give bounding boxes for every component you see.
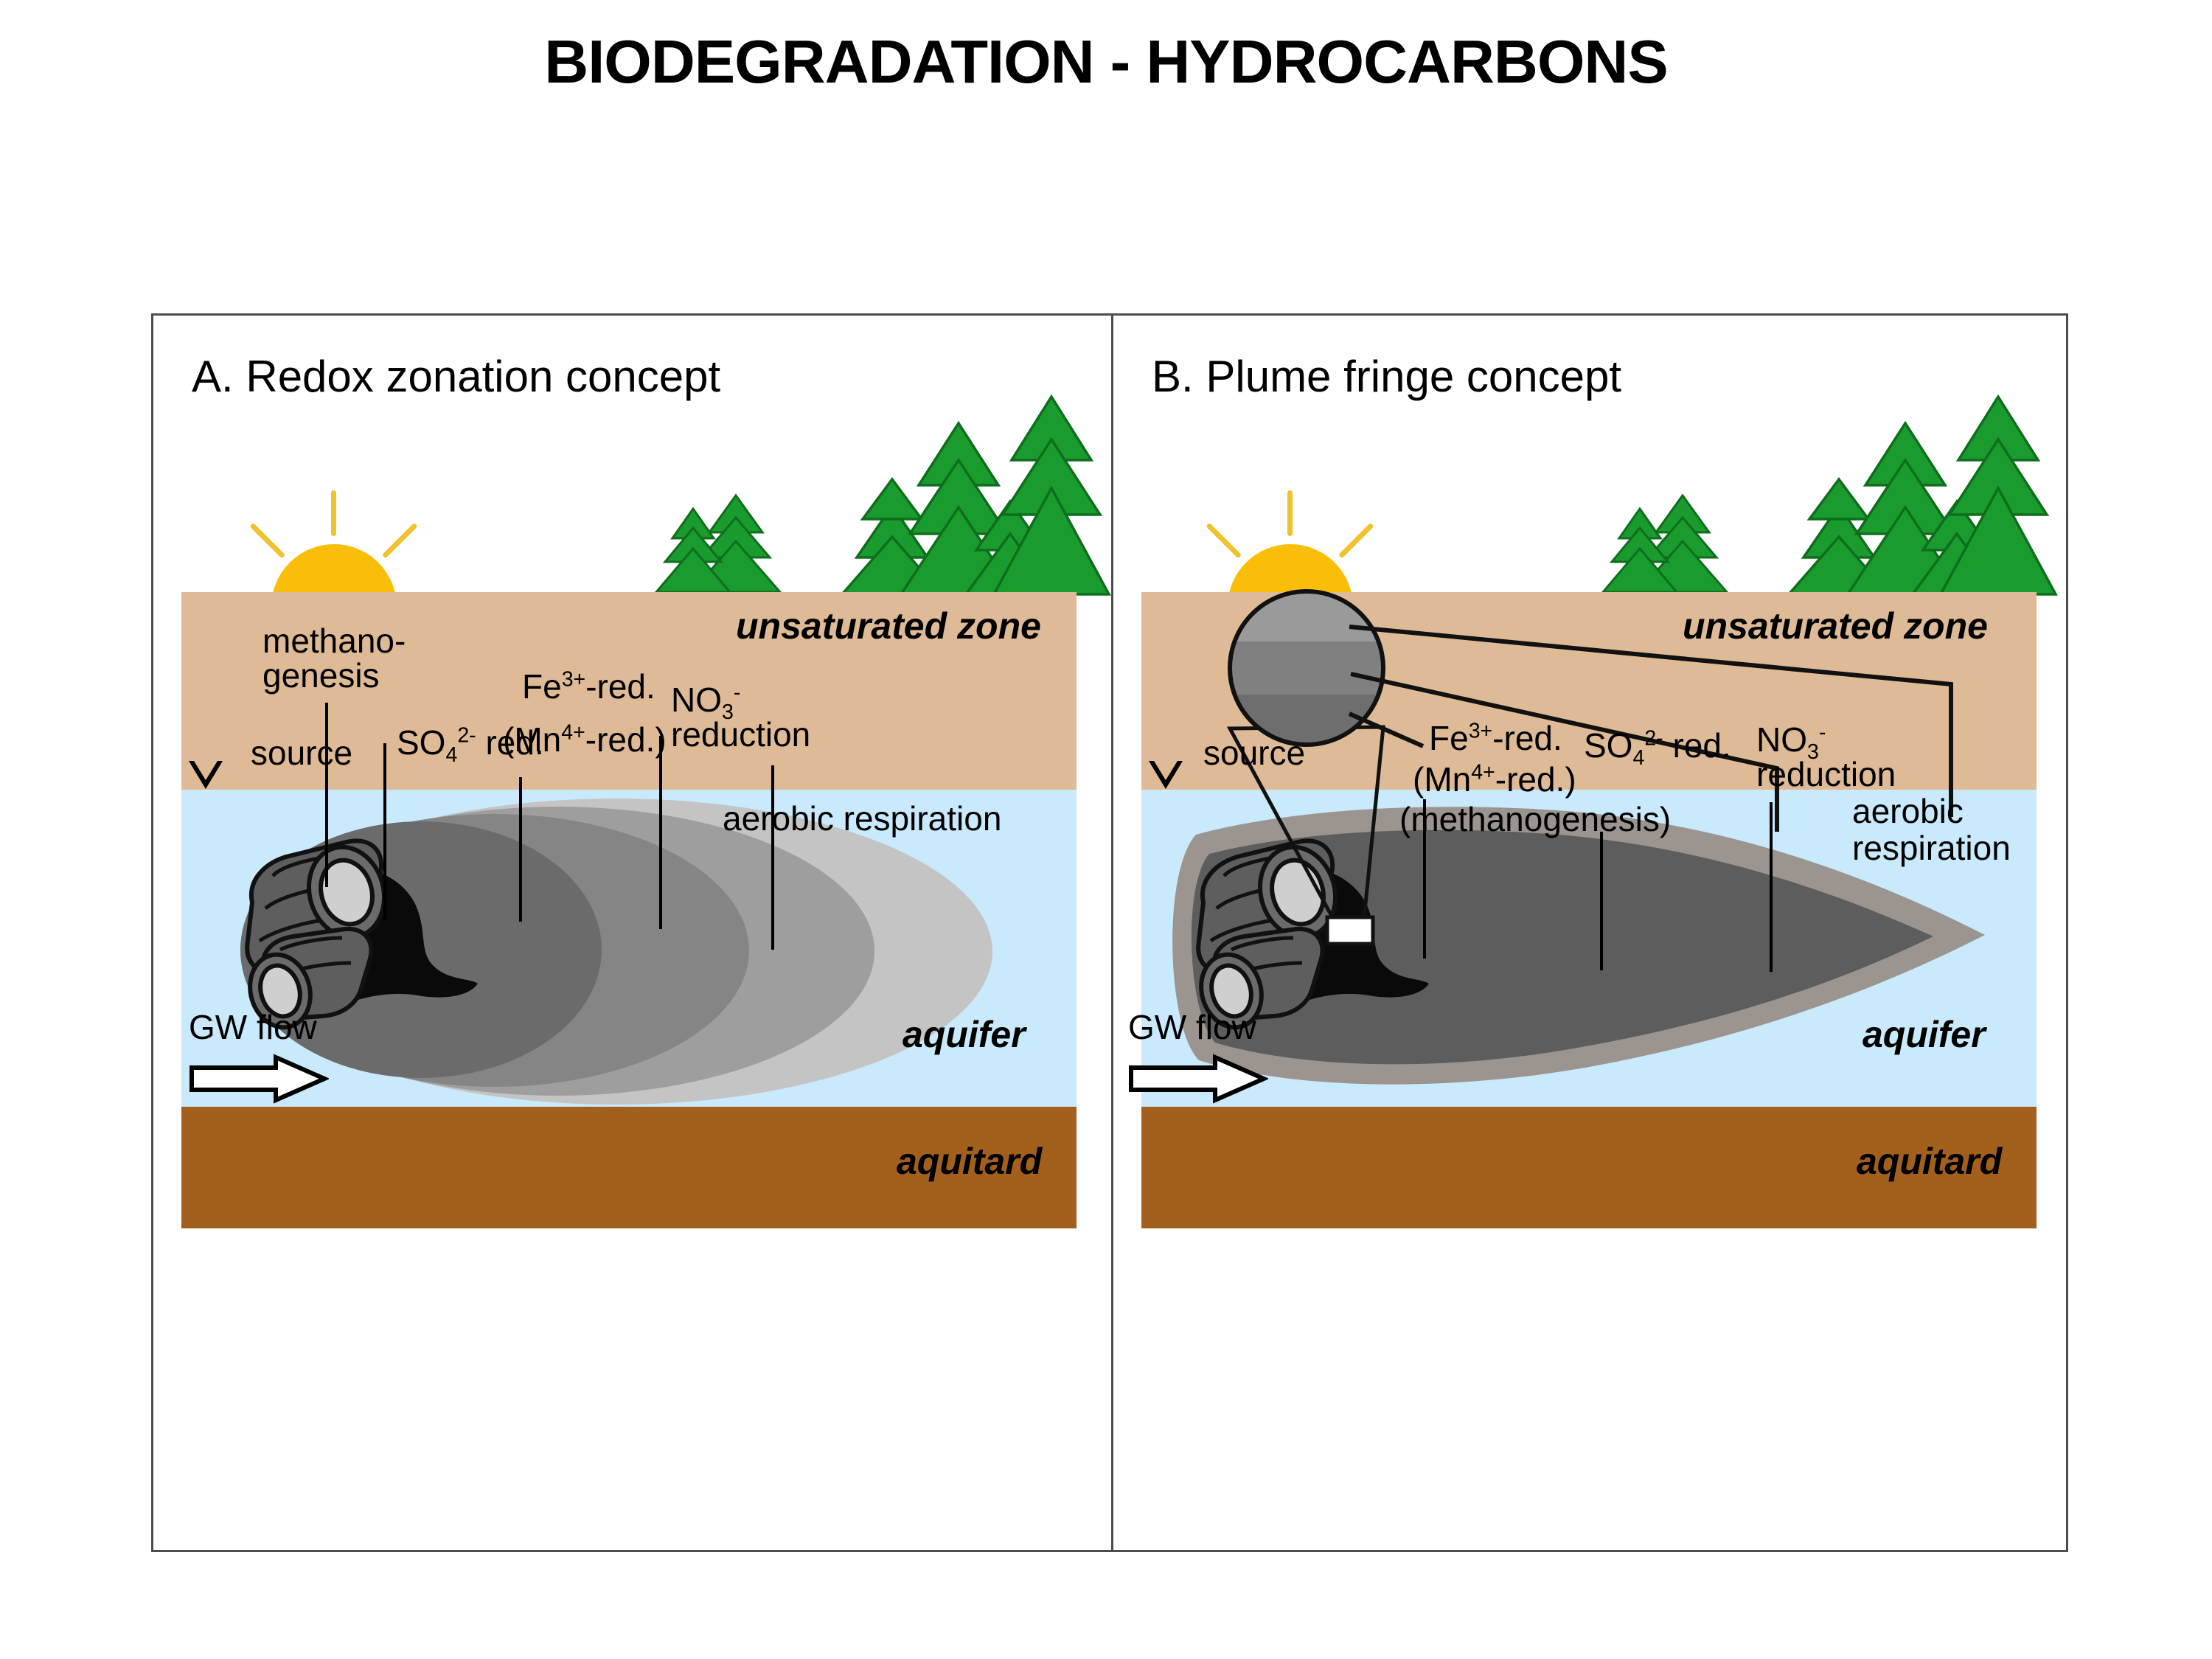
unsaturated-zone-label-b: unsaturated zone (1683, 605, 1988, 647)
leader-nitrate-b (1770, 802, 1773, 972)
nitrate-reduction-label-b: NO3- reduction (1756, 723, 1896, 793)
leader-iron-a (659, 736, 662, 929)
leader-nitrate-a (771, 765, 774, 950)
gw-flow-label-a: GW flow (189, 1007, 317, 1047)
leader-sulfate-a (519, 777, 522, 922)
tree-cluster-large (824, 397, 1090, 597)
aerobic-respiration-label-a: aerobic respiration (723, 799, 1001, 838)
leader-sulfate-b (1600, 832, 1603, 970)
figure-frame: A. Redox zonation concept (151, 313, 2068, 1552)
source-label-a: source (251, 736, 352, 771)
methanogenesis-label-b: (methanogenesis) (1399, 802, 1671, 837)
leader-methanogenesis-a (325, 703, 328, 887)
tree-cluster-small (662, 493, 795, 596)
unsaturated-zone-label-a: unsaturated zone (736, 605, 1041, 647)
panel-b-heading: B. Plume fringe concept (1152, 351, 1621, 402)
aquitard-label-a: aquitard (897, 1140, 1042, 1183)
source-barrels-icon (234, 832, 500, 1031)
page-title: BIODEGRADATION - HYDROCARBONS (0, 31, 2212, 92)
tree-cluster-large-b (1771, 397, 2037, 597)
gw-flow-arrow-a (189, 1053, 329, 1108)
iron-reduction-label-a: Fe3+-red. (522, 669, 655, 704)
leader-methanogenesis-a-2 (383, 743, 386, 920)
methanogenesis-label-a: methano- genesis (262, 624, 406, 694)
manganese-reduction-label-a: (Mn4+-red.) (503, 723, 667, 757)
source-label-b: source (1203, 736, 1305, 771)
panel-plume-fringe: B. Plume fringe concept (1113, 316, 2071, 1550)
water-table-symbol-b (1149, 761, 1183, 789)
iron-reduction-label-b: Fe3+-red. (1429, 721, 1562, 756)
aquifer-label-a: aquifer (902, 1013, 1026, 1056)
panel-redox-zonation: A. Redox zonation concept (153, 316, 1111, 1550)
panel-a-heading: A. Redox zonation concept (192, 351, 720, 402)
tree-cluster-small-b (1609, 493, 1742, 596)
aquifer-label-b: aquifer (1863, 1013, 1986, 1056)
nitrate-reduction-label-a: NO3- reduction (671, 683, 810, 753)
gw-flow-arrow-b (1128, 1053, 1268, 1108)
manganese-reduction-label-b: (Mn4+-red.) (1413, 762, 1576, 797)
gw-flow-label-b: GW flow (1128, 1007, 1256, 1047)
aerobic-respiration-label-b: aerobic respiration (1852, 793, 2011, 866)
aquitard-label-b: aquitard (1857, 1140, 2002, 1183)
water-table-symbol (189, 761, 223, 789)
sulfate-reduction-label-b: SO42- red. (1584, 728, 1731, 763)
